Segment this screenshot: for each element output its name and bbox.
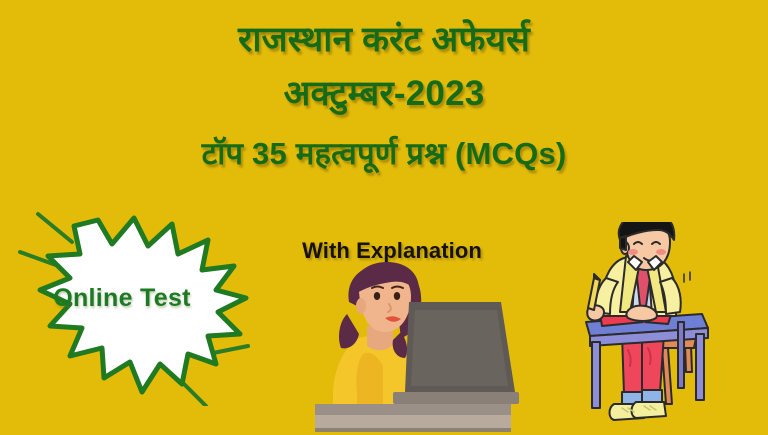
cheek-left — [628, 249, 638, 255]
headline-line-3: टॉप 35 महत्वपूर्ण प्रश्न (MCQs) — [0, 128, 768, 180]
headline-line-2: अक्टुम्बर-2023 — [0, 66, 768, 122]
woman-eye-left — [374, 292, 380, 300]
pencil-tip — [594, 274, 600, 280]
woman-eye-right — [394, 292, 400, 300]
sock-right — [642, 390, 662, 402]
woman-at-laptop-illustration — [305, 262, 520, 435]
motion-ticks — [684, 272, 690, 282]
laptop-screen-inner — [411, 310, 508, 386]
desk-top — [315, 404, 511, 415]
online-test-label: Online Test — [12, 284, 232, 313]
boy-student-illustration — [580, 222, 750, 435]
woman-torso-shade — [356, 353, 383, 408]
desk-edge — [315, 415, 511, 428]
cheek-right — [656, 249, 666, 255]
desk-shadow — [315, 428, 511, 432]
desk-leg-front-right — [696, 334, 704, 400]
hair-sideburn — [620, 236, 626, 250]
chair-leg — [662, 348, 672, 404]
banner-canvas: राजस्थान करंट अफेयर्स अक्टुम्बर-2023 टॉप… — [0, 0, 768, 435]
desk-leg-front-left — [592, 342, 600, 408]
laptop-base — [393, 392, 519, 404]
headline-block: राजस्थान करंट अफेयर्स अक्टुम्बर-2023 टॉप… — [0, 14, 768, 180]
online-test-badge[interactable]: Online Test — [12, 196, 274, 406]
subheading-with-explanation: With Explanation — [242, 238, 542, 264]
woman-ear — [356, 298, 366, 314]
headline-line-1: राजस्थान करंट अफेयर्स — [0, 14, 768, 66]
hand-right — [626, 306, 656, 321]
desk-leg-back — [678, 322, 684, 388]
